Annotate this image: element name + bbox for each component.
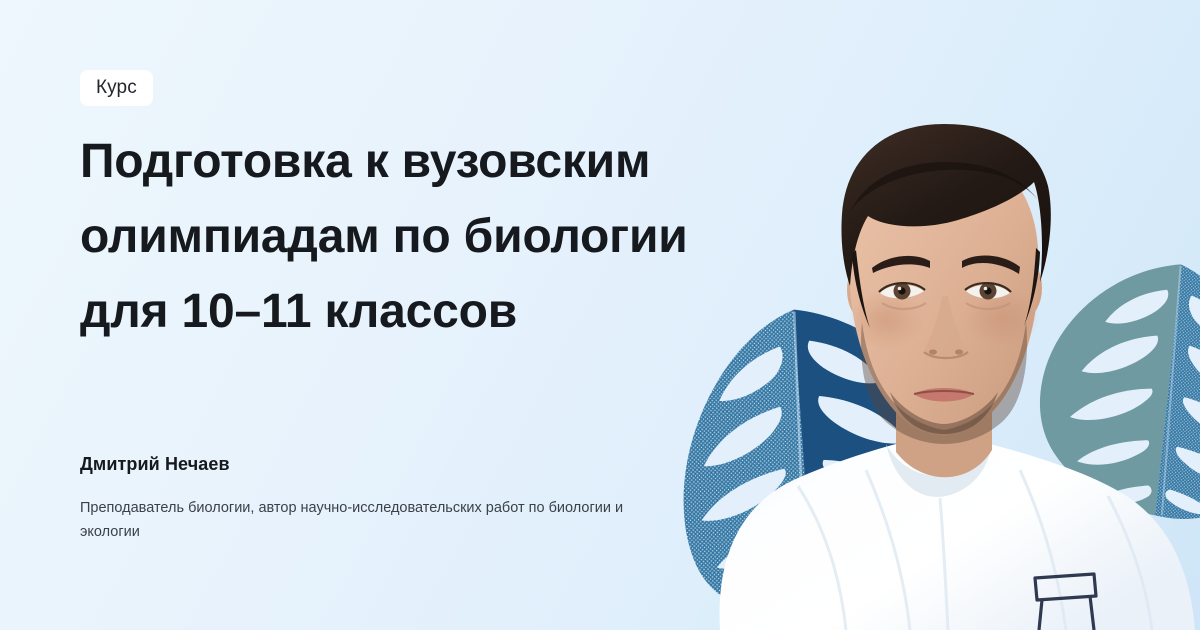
course-type-badge: Курс (80, 70, 153, 106)
author-block: Дмитрий Нечаев Преподаватель биологии, а… (80, 452, 680, 544)
author-role: Преподаватель биологии, автор научно-исс… (80, 496, 655, 544)
banner-content: Курс Подготовка к вузовским олимпиадам п… (80, 0, 780, 630)
course-banner: Курс Подготовка к вузовским олимпиадам п… (0, 0, 1200, 630)
author-name: Дмитрий Нечаев (80, 452, 680, 476)
page-title: Подготовка к вузовским олимпиадам по био… (80, 124, 780, 349)
